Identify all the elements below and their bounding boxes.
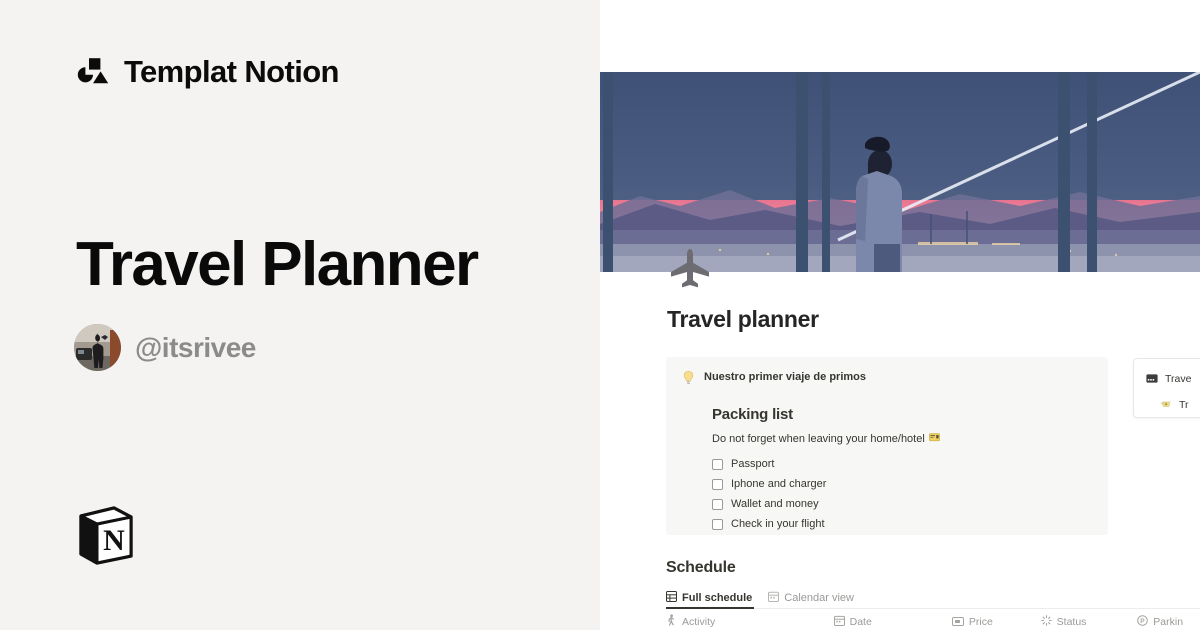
schedule-heading: Schedule xyxy=(666,559,736,577)
callout-text: Nuestro primer viaje de primos xyxy=(704,370,866,385)
airplane-emoji xyxy=(667,245,713,291)
loading-spinner-icon xyxy=(1041,613,1052,630)
column-header-price[interactable]: Price xyxy=(952,613,1041,630)
svg-text:P: P xyxy=(1141,618,1146,625)
credit-card-icon xyxy=(1146,370,1158,388)
checkbox-icon[interactable] xyxy=(712,459,723,470)
author-row: @itsrivee xyxy=(74,324,256,371)
table-header-row: Activity Date xyxy=(666,613,1200,630)
person-walking-icon xyxy=(666,613,677,630)
side-card-row-expense[interactable]: Tr xyxy=(1146,396,1200,414)
checkbox-icon[interactable] xyxy=(712,519,723,530)
list-item-label: Iphone and charger xyxy=(731,477,826,491)
side-card-label-budget: Trave xyxy=(1165,373,1191,385)
side-card-label-expense: Tr xyxy=(1179,399,1189,411)
circled-p-icon: P xyxy=(1137,613,1148,630)
column-header-status-label: Status xyxy=(1057,616,1087,628)
brand-name: Templat Notion xyxy=(124,56,339,87)
column-header-parking-label: Parkin xyxy=(1153,616,1183,628)
callout-header: Nuestro primer viaje de primos xyxy=(682,370,1092,388)
side-card-row-budget[interactable]: Trave xyxy=(1146,370,1200,388)
ticket-icon xyxy=(929,432,940,447)
notion-cube-logo-icon: N xyxy=(76,504,134,566)
calendar-view-icon xyxy=(768,589,779,607)
packing-checklist: Passport Iphone and charger Wallet and m… xyxy=(712,454,1092,534)
list-item[interactable]: Wallet and money xyxy=(712,494,1092,514)
travel-side-card[interactable]: Trave Tr xyxy=(1133,358,1200,418)
table-view-icon xyxy=(666,589,677,607)
author-handle: @itsrivee xyxy=(135,334,256,362)
column-header-activity-label: Activity xyxy=(682,616,715,628)
notion-page-preview: Travel planner Nuestro primer viaje de p… xyxy=(600,0,1200,630)
list-item-label: Check in your flight xyxy=(731,517,825,531)
page-title: Travel Planner xyxy=(76,232,478,297)
column-header-parking[interactable]: P Parkin xyxy=(1137,613,1200,630)
svg-text:N: N xyxy=(103,524,125,557)
credit-card-icon xyxy=(952,613,964,630)
avatar xyxy=(74,324,121,371)
column-header-status[interactable]: Status xyxy=(1041,613,1138,630)
lightbulb-icon xyxy=(682,370,695,388)
active-tab-underline xyxy=(666,607,754,609)
shapes-logo-icon xyxy=(76,54,110,88)
calendar-icon xyxy=(834,613,845,630)
promo-card: Templat Notion Travel Planner xyxy=(0,0,1200,630)
callout-block[interactable]: Nuestro primer viaje de primos Packing l… xyxy=(666,357,1108,535)
tab-full-schedule-label: Full schedule xyxy=(682,592,752,604)
notion-page-title: Travel planner xyxy=(667,306,819,333)
packing-list-subtitle: Do not forget when leaving your home/hot… xyxy=(712,432,1092,447)
column-header-date-label: Date xyxy=(850,616,872,628)
database-view-tabs: Full schedule Calendar view xyxy=(666,588,854,608)
money-with-wings-icon xyxy=(1160,396,1172,414)
cover-image xyxy=(600,72,1200,272)
column-header-activity[interactable]: Activity xyxy=(666,613,834,630)
column-header-price-label: Price xyxy=(969,616,993,628)
checkbox-icon[interactable] xyxy=(712,499,723,510)
list-item[interactable]: Check in your flight xyxy=(712,514,1092,534)
packing-list-heading: Packing list xyxy=(712,406,1092,423)
list-item[interactable]: Passport xyxy=(712,454,1092,474)
list-item-label: Wallet and money xyxy=(731,497,819,511)
tab-full-schedule[interactable]: Full schedule xyxy=(666,588,752,608)
tab-calendar-view-label: Calendar view xyxy=(784,592,854,604)
list-item[interactable]: Iphone and charger xyxy=(712,474,1092,494)
checkbox-icon[interactable] xyxy=(712,479,723,490)
brand: Templat Notion xyxy=(76,54,339,88)
packing-list-subtitle-text: Do not forget when leaving your home/hot… xyxy=(712,432,925,447)
tab-calendar-view[interactable]: Calendar view xyxy=(768,588,854,608)
list-item-label: Passport xyxy=(731,457,774,471)
column-header-date[interactable]: Date xyxy=(834,613,952,630)
left-panel: Templat Notion Travel Planner xyxy=(0,0,600,630)
